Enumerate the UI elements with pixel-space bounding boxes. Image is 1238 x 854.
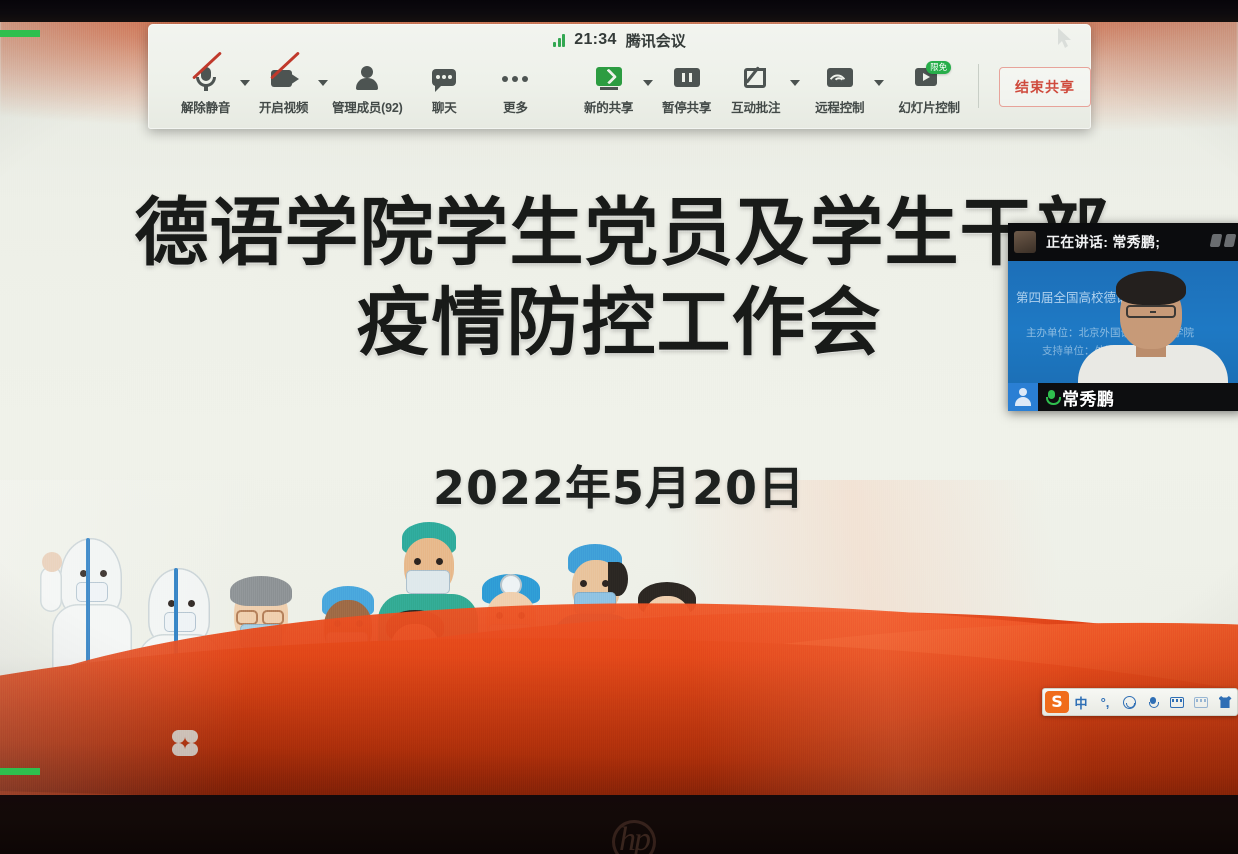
remote-control-label: 远程控制	[815, 97, 864, 116]
toolbar-divider	[978, 64, 979, 108]
new-share-button[interactable]: 新的共享	[579, 66, 638, 116]
more-label: 更多	[503, 97, 528, 116]
toolbar-buttons-row: 解除静音 开启视频 管理成员(92)	[148, 56, 1091, 126]
chat-bubble-icon	[429, 66, 459, 92]
annotate-label: 互动批注	[731, 97, 780, 116]
manage-members-icon	[352, 66, 382, 92]
ime-language-mode[interactable]: 中	[1069, 693, 1093, 712]
pause-share-button[interactable]: 暂停共享	[657, 66, 716, 116]
speaking-status-label: 正在讲话: 常秀鹏;	[1046, 232, 1160, 252]
pause-share-label: 暂停共享	[662, 97, 711, 116]
speaker-glasses	[1126, 305, 1176, 318]
chat-label: 聊天	[432, 97, 457, 116]
voice-input-icon[interactable]	[1141, 697, 1165, 708]
annotate-button[interactable]: 互动批注	[726, 66, 785, 116]
chat-button[interactable]: 聊天	[415, 66, 474, 116]
monitor-bezel-top	[0, 0, 1238, 22]
microphone-on-icon	[1046, 390, 1057, 404]
remote-options-chevron-down-icon[interactable]	[871, 70, 886, 96]
speaker-video-panel[interactable]: 正在讲话: 常秀鹏; 第四届全国高校德语配音大赛 主办单位：北京外国语大学德语学…	[1008, 223, 1238, 411]
monitor-photo: 德语学院学生党员及学生干部 疫情防控工作会 2022年5月20日	[0, 0, 1238, 854]
ime-punctuation-mode[interactable]: °,	[1093, 695, 1117, 710]
share-options-chevron-down-icon[interactable]	[640, 70, 655, 96]
pause-share-icon	[672, 66, 702, 92]
end-share-button[interactable]: 结束共享	[999, 67, 1091, 107]
user-avatar-icon	[1008, 383, 1038, 411]
soft-keyboard-icon[interactable]	[1165, 697, 1189, 708]
toolbox-icon[interactable]	[1189, 697, 1213, 708]
skin-icon[interactable]	[1213, 696, 1237, 708]
start-video-button[interactable]: 开启视频	[254, 66, 313, 116]
speaker-thumbnail-avatar	[1014, 231, 1036, 253]
speaker-hair	[1116, 271, 1186, 305]
unmute-label: 解除静音	[181, 97, 230, 116]
sogou-ime-toolbar[interactable]: S 中 °,	[1042, 688, 1238, 716]
slide-date: 2022年5月20日	[0, 452, 1238, 518]
manage-members-label: 管理成员(92)	[332, 97, 403, 116]
slide-control-icon: 限免	[914, 66, 944, 92]
more-options-icon[interactable]	[1211, 234, 1235, 247]
screen-area: 德语学院学生党员及学生干部 疫情防控工作会 2022年5月20日	[0, 18, 1238, 800]
audio-options-chevron-down-icon[interactable]	[237, 70, 252, 96]
new-share-icon	[594, 66, 624, 92]
more-button[interactable]: 更多	[486, 66, 545, 116]
participant-name-bar: 常秀鹏	[1008, 383, 1238, 411]
annotate-options-chevron-down-icon[interactable]	[787, 70, 802, 96]
pinwheel-logo-icon	[172, 730, 198, 756]
new-share-label: 新的共享	[584, 97, 633, 116]
signal-bars-icon	[553, 34, 565, 47]
microphone-muted-icon	[191, 66, 221, 92]
camera-off-icon	[269, 66, 299, 92]
app-name-label: 腾讯会议	[626, 30, 686, 51]
start-video-label: 开启视频	[259, 97, 308, 116]
unmute-button[interactable]: 解除静音	[176, 66, 235, 116]
annotate-icon	[741, 66, 771, 92]
manage-members-button[interactable]: 管理成员(92)	[332, 66, 403, 116]
tencent-meeting-toolbar: 21:34 腾讯会议 解除静音 开启视频	[148, 24, 1091, 129]
slide-control-button[interactable]: 限免 幻灯片控制	[892, 66, 966, 116]
screen-edge-marker-bottom	[0, 768, 40, 775]
clock-label: 21:34	[574, 31, 616, 49]
smiley-icon[interactable]	[1117, 696, 1141, 709]
remote-control-icon	[825, 66, 855, 92]
screen-edge-marker-top	[0, 30, 40, 37]
more-dots-icon	[500, 66, 530, 92]
sogou-logo-icon[interactable]: S	[1045, 691, 1069, 713]
toolbar-title-row: 21:34 腾讯会议	[148, 24, 1091, 56]
video-options-chevron-down-icon[interactable]	[315, 70, 330, 96]
pip-header: 正在讲话: 常秀鹏;	[1008, 223, 1238, 261]
remote-control-button[interactable]: 远程控制	[810, 66, 869, 116]
participant-name-label: 常秀鹏	[1062, 385, 1115, 410]
slide-control-label: 幻灯片控制	[898, 97, 960, 116]
free-trial-badge: 限免	[926, 61, 951, 74]
